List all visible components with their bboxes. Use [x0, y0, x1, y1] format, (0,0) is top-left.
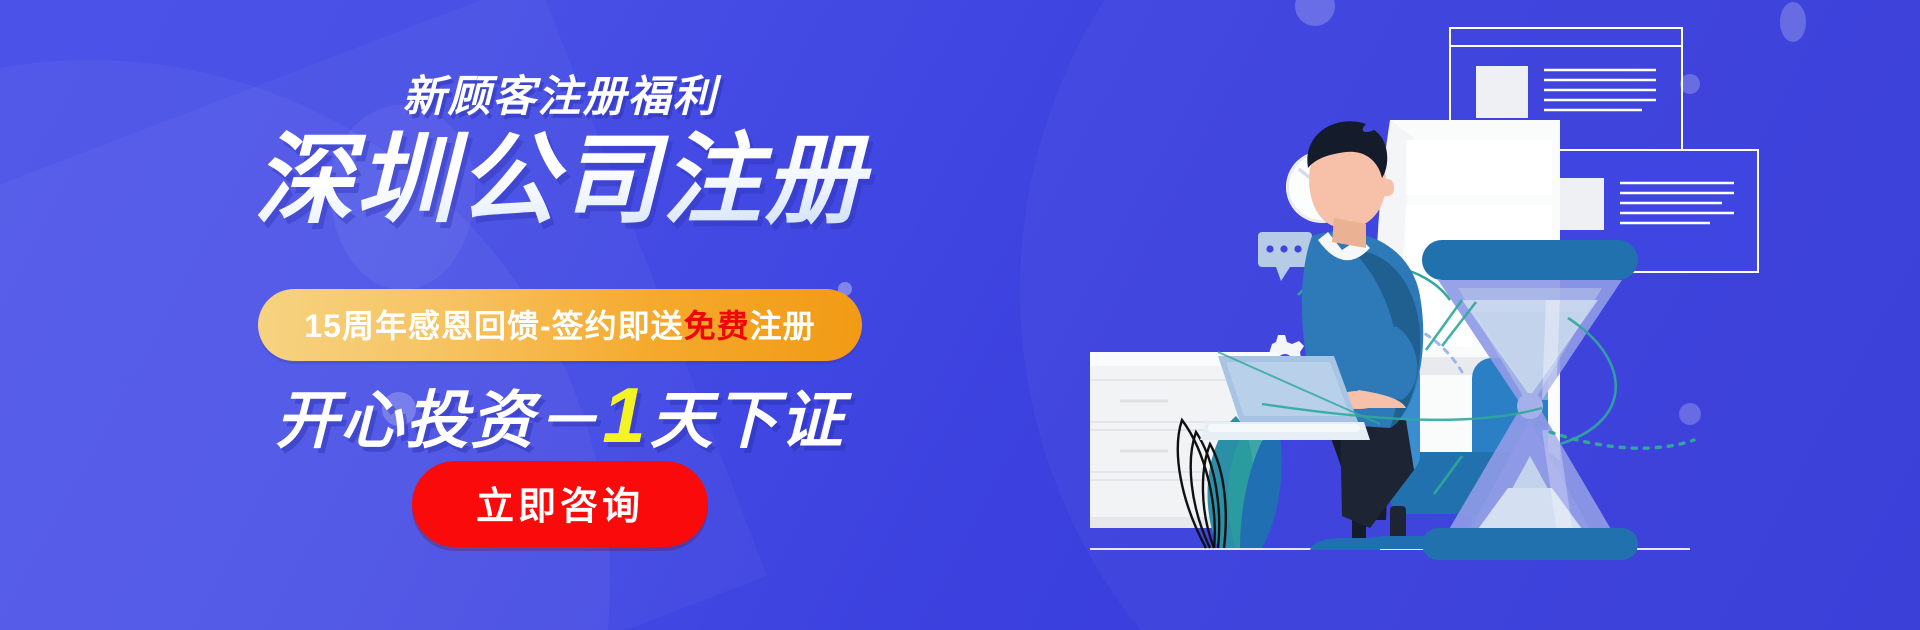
promo-pill-wrapper: 15周年感恩回馈-签约即送免费注册 [0, 289, 1120, 361]
banner-headline: 深圳公司注册 [0, 124, 1120, 237]
cta-wrapper: 立即咨询 [0, 461, 1120, 547]
banner-eyebrow: 新顾客注册福利 [0, 62, 1120, 124]
subline-after: 天下证 [650, 386, 845, 456]
subline-number: 1 [600, 371, 649, 459]
hero-illustration [1090, 0, 1790, 630]
subline-before: 开心投资－ [275, 386, 600, 456]
promo-badge: 15周年感恩回馈-签约即送免费注册 [258, 289, 861, 361]
promo-badge-suffix: 注册 [750, 308, 816, 344]
banner-copy-block: 新顾客注册福利 深圳公司注册 15周年感恩回馈-签约即送免费注册 开心投资－1天… [0, 0, 1120, 630]
promotional-banner: 新顾客注册福利 深圳公司注册 15周年感恩回馈-签约即送免费注册 开心投资－1天… [0, 0, 1920, 630]
banner-subline: 开心投资－1天下证 [0, 370, 1120, 461]
consult-now-button[interactable]: 立即咨询 [412, 461, 708, 547]
promo-badge-prefix: 15周年感恩回馈-签约即送 [304, 308, 683, 344]
promo-badge-highlight: 免费 [684, 308, 750, 344]
